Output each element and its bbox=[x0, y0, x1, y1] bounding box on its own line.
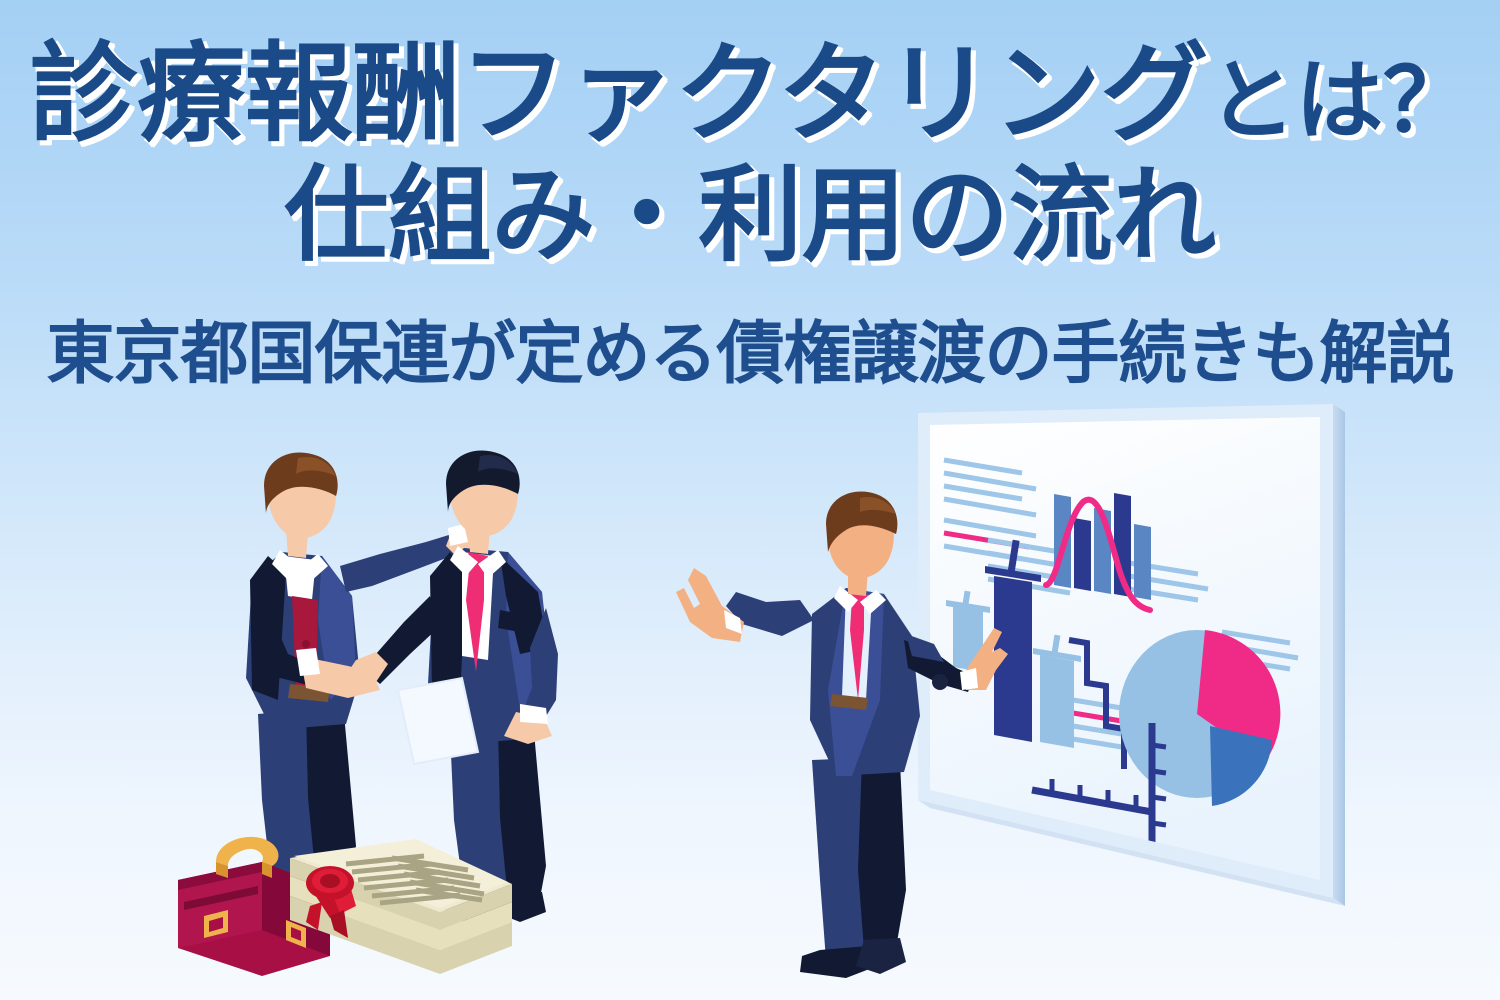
banner-canvas: 診療報酬ファクタリングとは？ 仕組み・利用の流れ 東京都国保連が定める債権譲渡の… bbox=[0, 0, 1500, 1000]
page-title-line-1-main: 診療報酬ファクタリング bbox=[30, 33, 1208, 154]
page-title-line-2: 仕組み・利用の流れ bbox=[0, 164, 1500, 268]
page-title-line-1-tail: とは？ bbox=[1208, 51, 1471, 150]
banner-text-block: 診療報酬ファクタリングとは？ 仕組み・利用の流れ 東京都国保連が定める債権譲渡の… bbox=[0, 0, 1500, 397]
page-title-line-1: 診療報酬ファクタリングとは？ bbox=[0, 40, 1500, 148]
page-subtitle: 東京都国保連が定める債権譲渡の手続きも解説 bbox=[0, 298, 1500, 397]
